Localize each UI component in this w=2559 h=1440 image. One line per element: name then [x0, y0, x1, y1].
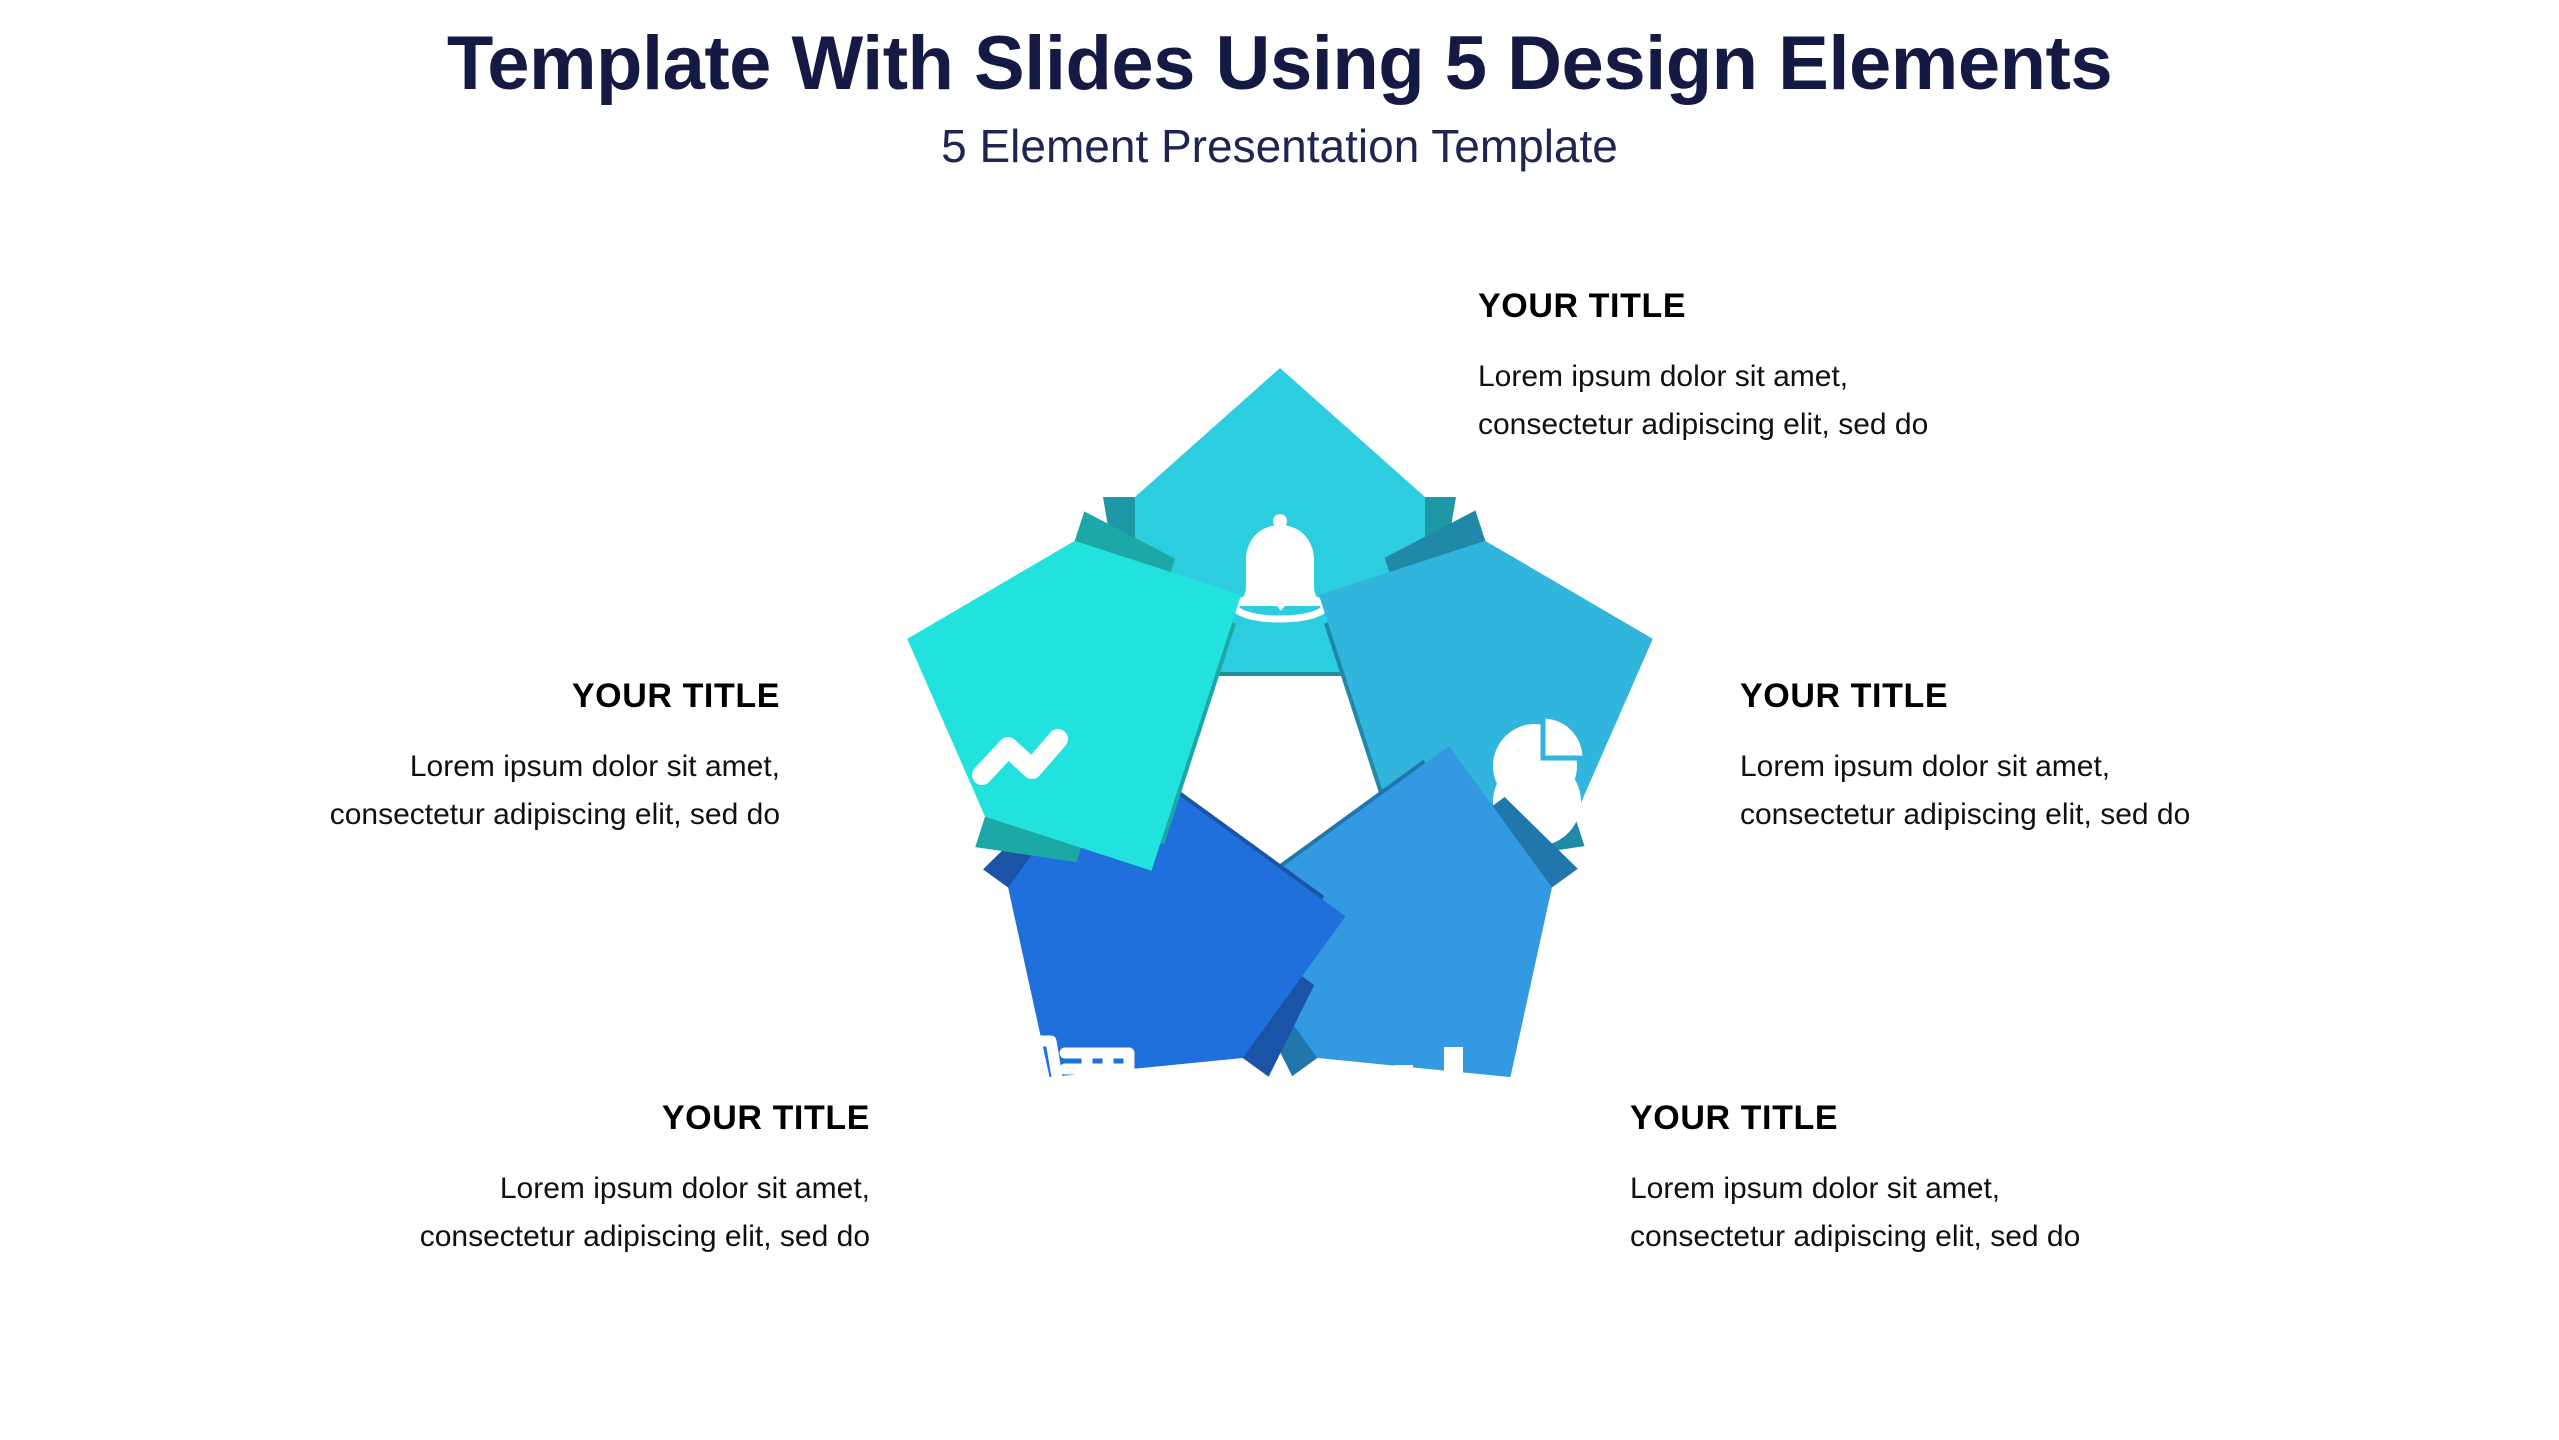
- callout-body-line-1: Lorem ipsum dolor sit amet,: [500, 1172, 870, 1205]
- callout-body: Lorem ipsum dolor sit amet, consectetur …: [200, 1165, 870, 1262]
- callout-body-line-2: consectetur adipiscing elit, sed do: [420, 1220, 870, 1253]
- segment-left-shadow-right: [1065, 511, 1180, 600]
- segment-bottom-right-shadow-right: [1233, 959, 1342, 1077]
- callout-body-line-2: consectetur adipiscing elit, sed do: [330, 798, 780, 831]
- segment-top-body: [1135, 368, 1425, 672]
- trend-line-icon: [982, 739, 1058, 775]
- callout-body-line-1: Lorem ipsum dolor sit amet,: [1740, 750, 2110, 783]
- segment-bottom-right-body: [1214, 746, 1627, 1162]
- callout-title: YOUR TITLE: [1740, 676, 2440, 717]
- segment-left-body: [862, 501, 1241, 871]
- segment-left-shadow-left: [975, 789, 1090, 878]
- callout-body-line-1: Lorem ipsum dolor sit amet,: [1478, 360, 1848, 393]
- pie-chart-icon: [1493, 716, 1585, 846]
- slide-header: Template With Slides Using 5 Design Elem…: [0, 0, 2559, 171]
- callout-title: YOUR TITLE: [130, 676, 780, 717]
- callout-body-line-2: consectetur adipiscing elit, sed do: [1740, 798, 2190, 831]
- callout-bottom-left: YOUR TITLE Lorem ipsum dolor sit amet, c…: [200, 1098, 870, 1262]
- segment-top-shadow-right: [1395, 497, 1456, 598]
- callout-body-line-2: consectetur adipiscing elit, sed do: [1630, 1220, 2080, 1253]
- shopping-cart-icon: [1037, 1041, 1129, 1124]
- callout-title: YOUR TITLE: [200, 1098, 870, 1139]
- segment-bottom-right[interactable]: [1187, 724, 1654, 1181]
- callout-body: Lorem ipsum dolor sit amet, consectetur …: [1740, 743, 2440, 840]
- segment-top-shadow-left: [1103, 497, 1164, 598]
- segment-top-shadow-bottom: [1164, 664, 1396, 676]
- callout-body: Lorem ipsum dolor sit amet, consectetur …: [1478, 353, 2158, 450]
- segment-right-shadow-left: [1379, 510, 1494, 599]
- callout-title: YOUR TITLE: [1630, 1098, 2330, 1139]
- callout-right: YOUR TITLE Lorem ipsum dolor sit amet, c…: [1740, 676, 2440, 840]
- segment-right-body: [1319, 501, 1698, 871]
- callout-body-line-1: Lorem ipsum dolor sit amet,: [410, 750, 780, 783]
- bar-chart-icon: [1394, 1047, 1463, 1111]
- segment-right-shadow-bottom: [1324, 620, 1407, 844]
- callout-body-line-2: consectetur adipiscing elit, sed do: [1478, 408, 1928, 441]
- segment-right[interactable]: [1305, 471, 1707, 902]
- callout-body: Lorem ipsum dolor sit amet, consectetur …: [1630, 1165, 2330, 1262]
- segment-bottom-left-shadow-bottom: [1130, 760, 1325, 906]
- segment-bottom-left-shadow-left: [1219, 959, 1328, 1077]
- page-subtitle: 5 Element Presentation Template: [0, 105, 2559, 172]
- segment-bottom-right-shadow-left: [1469, 787, 1578, 905]
- segment-top[interactable]: [1103, 368, 1456, 676]
- page-title: Template With Slides Using 5 Design Elem…: [0, 0, 2559, 105]
- segment-left-shadow-bottom: [1153, 620, 1236, 844]
- callout-body-line-1: Lorem ipsum dolor sit amet,: [1630, 1172, 2000, 1205]
- callout-left: YOUR TITLE Lorem ipsum dolor sit amet, c…: [130, 676, 780, 840]
- segment-bottom-left[interactable]: [907, 725, 1374, 1182]
- callout-body: Lorem ipsum dolor sit amet, consectetur …: [130, 743, 780, 840]
- callout-bottom-right: YOUR TITLE Lorem ipsum dolor sit amet, c…: [1630, 1098, 2330, 1262]
- callout-title: YOUR TITLE: [1478, 286, 2158, 327]
- segment-bottom-left-shadow-right: [983, 788, 1092, 906]
- segment-left[interactable]: [852, 471, 1254, 902]
- segment-right-shadow-right: [1470, 788, 1585, 877]
- callout-top-right: YOUR TITLE Lorem ipsum dolor sit amet, c…: [1478, 286, 2158, 450]
- segment-bottom-left-body: [932, 746, 1345, 1162]
- segment-bottom-right-shadow-bottom: [1236, 760, 1431, 906]
- bell-icon: [1234, 514, 1326, 619]
